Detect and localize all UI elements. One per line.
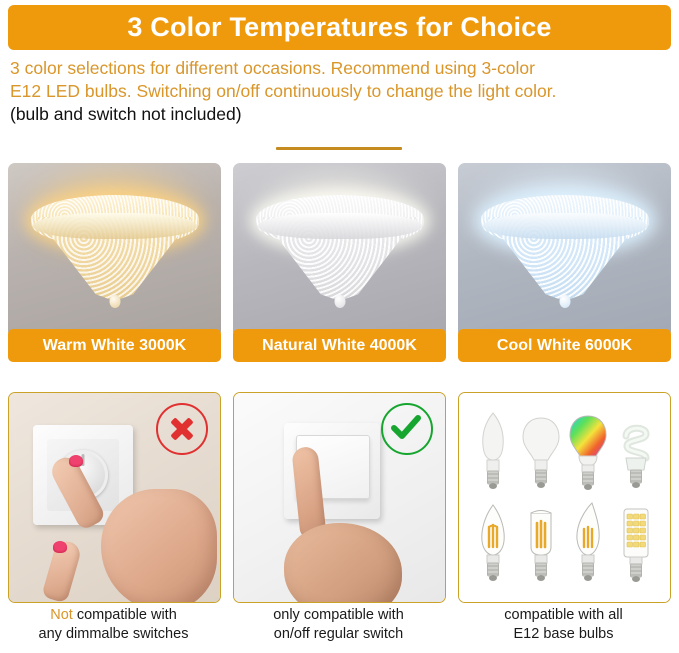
lamp-bottom-crystal xyxy=(559,295,570,308)
color-temperature-card-cool: Cool White 6000K xyxy=(458,163,671,375)
crystal-flush-mount-lamp-natural-white-image xyxy=(233,163,446,338)
intro-line-1: 3 color selections for different occasio… xyxy=(10,57,670,80)
palm xyxy=(101,489,217,603)
intro-paragraph: 3 color selections for different occasio… xyxy=(10,57,670,126)
rgb-color-changing-bulb xyxy=(566,408,610,494)
hand-with-red-nails xyxy=(67,449,217,603)
lamp-bottom-crystal xyxy=(109,295,120,308)
caption-dimmer: Not compatible with any dimmalbe switche… xyxy=(8,606,219,644)
fingernail xyxy=(69,455,83,467)
crystal-flush-mount-lamp-warm-white-image xyxy=(8,163,221,338)
header-banner: 3 Color Temperatures for Choice xyxy=(8,5,671,50)
filament-flame-tip-bulb xyxy=(566,501,610,587)
color-temperature-label-cool: Cool White 6000K xyxy=(458,329,671,362)
finger-pressing-rocker-switch-image xyxy=(233,392,446,603)
lamp-fixture xyxy=(256,195,424,310)
lamp-bottom-crystal xyxy=(334,295,345,308)
frosted-candle-bulb xyxy=(471,408,515,494)
caption-line-2: E12 base bulbs xyxy=(514,626,614,642)
crystal-flush-mount-lamp-cool-white-image xyxy=(458,163,671,338)
compatibility-row: Not compatible with any dimmalbe switche… xyxy=(8,392,671,648)
lamp-fixture xyxy=(481,195,649,310)
filament-candle-bulb xyxy=(471,501,515,587)
caption-line-2: on/off regular switch xyxy=(274,626,404,642)
caption-highlight: Not xyxy=(50,607,73,623)
frosted-globe-bulb xyxy=(519,408,563,494)
label-text: Warm White 3000K xyxy=(43,337,186,355)
color-temperature-card-warm: Warm White 3000K xyxy=(8,163,221,375)
lamp-rim xyxy=(258,213,422,239)
label-text: Natural White 4000K xyxy=(262,337,417,355)
color-temperature-row: Warm White 3000K Natural White 4000K xyxy=(8,163,671,375)
color-temperature-card-natural: Natural White 4000K xyxy=(233,163,446,375)
label-text: Cool White 6000K xyxy=(497,337,632,355)
bulb-grid xyxy=(469,405,660,590)
hand-turning-dimmer-switch-image xyxy=(8,392,221,603)
hand-pressing-switch xyxy=(274,471,424,603)
intro-line-3-note: (bulb and switch not included) xyxy=(10,103,670,126)
thumbnail xyxy=(53,541,67,553)
intro-line-2: E12 LED bulbs. Switching on/off continuo… xyxy=(10,80,670,103)
lamp-rim xyxy=(33,213,197,239)
caption-line-1: compatible with all xyxy=(504,607,622,623)
caption-line-1: compatible with xyxy=(73,607,177,623)
filament-tubular-bulb xyxy=(519,501,563,587)
palm xyxy=(284,523,402,603)
led-corn-bulb xyxy=(614,501,658,587)
e12-base-bulb-assortment-image xyxy=(458,392,671,603)
color-temperature-label-natural: Natural White 4000K xyxy=(233,329,446,362)
infographic-page: 3 Color Temperatures for Choice 3 color … xyxy=(0,0,679,653)
caption-bulbs: compatible with all E12 base bulbs xyxy=(458,606,669,644)
spiral-cfl-bulb xyxy=(614,408,658,494)
color-temperature-label-warm: Warm White 3000K xyxy=(8,329,221,362)
caption-line-2: any dimmalbe switches xyxy=(39,626,189,642)
red-x-icon xyxy=(156,403,208,455)
caption-line-1: only compatible with xyxy=(273,607,404,623)
section-divider xyxy=(276,147,402,150)
page-title: 3 Color Temperatures for Choice xyxy=(127,12,551,43)
green-check-icon xyxy=(381,403,433,455)
lamp-rim xyxy=(483,213,647,239)
lamp-fixture xyxy=(31,195,199,310)
caption-rocker: only compatible with on/off regular swit… xyxy=(233,606,444,644)
